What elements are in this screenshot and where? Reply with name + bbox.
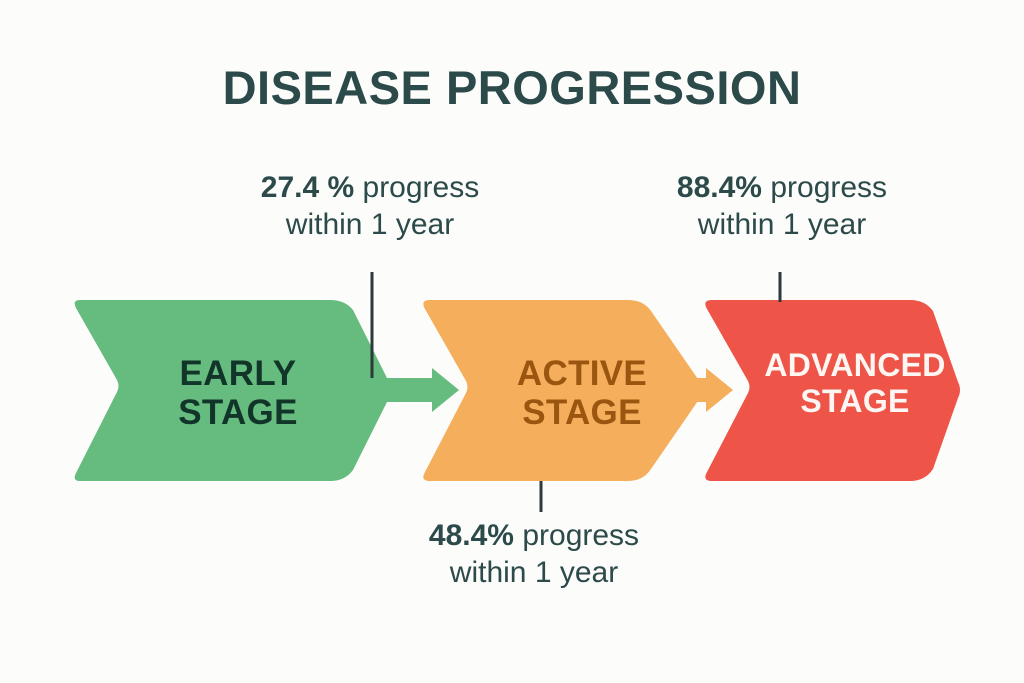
annotation-early-line1: 27.4 % progress <box>200 170 540 207</box>
annotation-early-percent: 27.4 % <box>261 171 354 204</box>
chevron-stage-active[interactable] <box>423 300 702 481</box>
annotation-active-line2: within 1 year <box>364 555 704 592</box>
annotation-advanced-suffix: progress <box>762 171 887 204</box>
chevron-stage-advanced[interactable] <box>705 300 960 481</box>
chevron-stage-early[interactable] <box>75 300 391 481</box>
annotation-active-line1: 48.4% progress <box>364 518 704 555</box>
infographic-canvas: DISEASE PROGRESSION EARLY STAGE ACTIVE S… <box>0 0 1024 683</box>
annotation-active-percent: 48.4% <box>429 519 514 552</box>
annotation-advanced-percent: 88.4% <box>677 171 762 204</box>
annotation-early-suffix: progress <box>354 171 479 204</box>
annotation-advanced-line1: 88.4% progress <box>612 170 952 207</box>
annotation-advanced-line2: within 1 year <box>612 207 952 244</box>
annotation-active-suffix: progress <box>514 519 639 552</box>
annotation-active-progress: 48.4% progress within 1 year <box>364 518 704 591</box>
annotation-early-line2: within 1 year <box>200 207 540 244</box>
annotation-early-progress: 27.4 % progress within 1 year <box>200 170 540 243</box>
annotation-advanced-progress: 88.4% progress within 1 year <box>612 170 952 243</box>
